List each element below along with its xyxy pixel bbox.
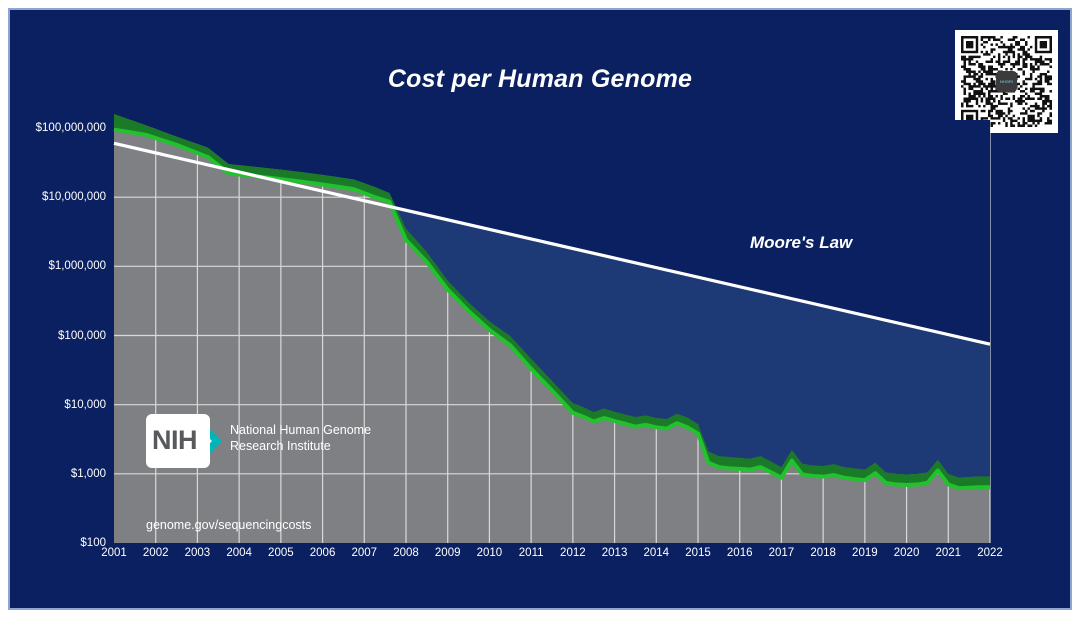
- x-axis-tick-label: 2019: [852, 547, 878, 559]
- x-axis-tick-label: 2021: [935, 547, 961, 559]
- y-axis-tick-label: $100,000: [58, 330, 106, 342]
- source-url[interactable]: genome.gov/sequencingcosts: [146, 518, 311, 532]
- moore-law-label: Moore's Law: [750, 233, 852, 253]
- x-axis-tick-label: 2004: [226, 547, 252, 559]
- x-axis-tick-label: 2007: [351, 547, 377, 559]
- x-axis-tick-label: 2015: [685, 547, 711, 559]
- x-axis: 2001200220032004200520062007200820092010…: [114, 543, 990, 569]
- institute-name: National Human Genome Research Institute: [230, 423, 380, 454]
- x-axis-tick-label: 2011: [519, 547, 544, 559]
- x-axis-tick-label: 2001: [101, 547, 127, 559]
- nih-badge: NIH: [146, 414, 224, 468]
- x-axis-tick-label: 2017: [769, 547, 795, 559]
- slide-canvas: Cost per Human Genome NHGRI $100,000,000…: [8, 8, 1072, 610]
- y-axis-tick-label: $1,000,000: [48, 260, 106, 272]
- institute-name-line2: Research Institute: [230, 439, 380, 455]
- x-axis-tick-label: 2020: [894, 547, 920, 559]
- x-axis-tick-label: 2002: [143, 547, 169, 559]
- x-axis-tick-label: 2010: [477, 547, 503, 559]
- x-axis-tick-label: 2006: [310, 547, 336, 559]
- page-title: Cost per Human Genome: [10, 65, 1070, 94]
- x-axis-tick-label: 2008: [393, 547, 419, 559]
- x-axis-tick-label: 2018: [810, 547, 836, 559]
- qr-center-logo: NHGRI: [996, 71, 1017, 92]
- x-axis-tick-label: 2003: [185, 547, 211, 559]
- nih-logo: NIH National Human Genome Research Insti…: [146, 414, 372, 468]
- qr-code[interactable]: NHGRI: [955, 30, 1058, 133]
- y-axis-tick-label: $10,000: [64, 399, 106, 411]
- y-axis-tick-label: $1,000: [71, 468, 106, 480]
- x-axis-tick-label: 2016: [727, 547, 753, 559]
- y-axis-tick-label: $100,000,000: [36, 122, 106, 134]
- x-axis-tick-label: 2022: [977, 547, 1003, 559]
- x-axis-tick-label: 2005: [268, 547, 294, 559]
- x-axis-tick-label: 2014: [643, 547, 669, 559]
- x-axis-tick-label: 2009: [435, 547, 461, 559]
- x-axis-tick-label: 2012: [560, 547, 586, 559]
- x-axis-tick-label: 2013: [602, 547, 628, 559]
- plot-svg: [114, 120, 990, 543]
- y-axis-tick-label: $10,000,000: [42, 191, 106, 203]
- cost-per-genome-chart: $100,000,000$10,000,000$1,000,000$100,00…: [114, 120, 990, 543]
- nih-abbreviation: NIH: [152, 426, 204, 455]
- institute-name-line1: National Human Genome: [230, 423, 380, 439]
